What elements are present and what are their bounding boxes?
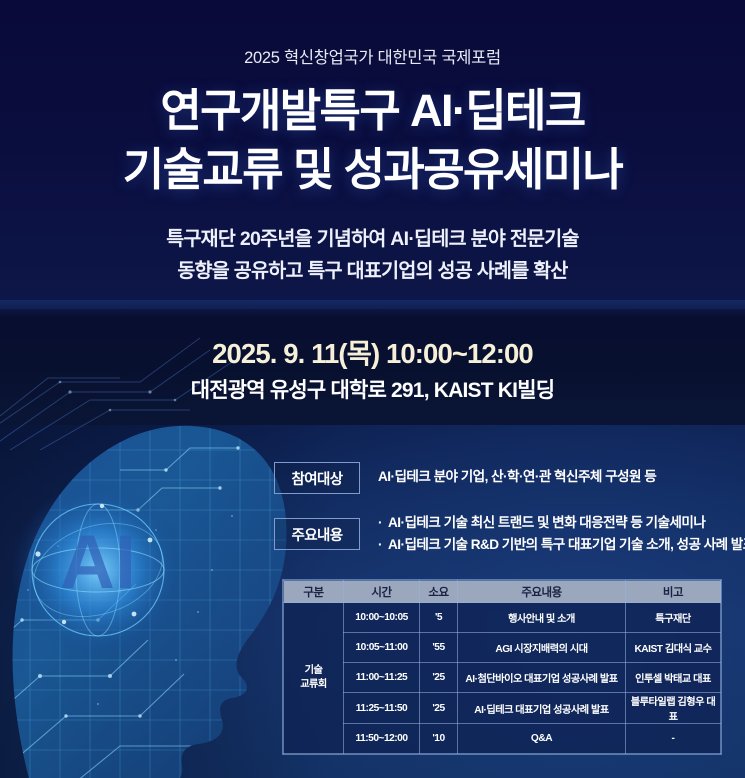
info-body-contents: AI·딥테크 기술 최신 트랜드 및 변화 대응전략 등 기술세미나 AI·딥테… <box>360 508 745 556</box>
cell-duration: '5 <box>420 603 458 633</box>
cell-note: KAIST 김대식 교수 <box>626 633 721 663</box>
column-header-group: 구분 <box>284 581 344 603</box>
poster-subtitle: 특구재단 20주년을 기념하여 AI·딥테크 분야 전문기술 동향을 공유하고 … <box>0 224 745 287</box>
cell-topic: AI·첨단바이오 대표기업 성공사례 발표 <box>458 663 626 693</box>
session-group-label: 기술 교류회 <box>284 603 344 754</box>
contents-bullet-1: AI·딥테크 기술 최신 트랜드 및 변화 대응전략 등 기술세미나 <box>378 512 745 534</box>
table-row: 11:00~11:25 '25 AI·첨단바이오 대표기업 성공사례 발표 인투… <box>284 663 721 693</box>
cell-topic: AGI 시장지배력의 시대 <box>458 633 626 663</box>
session-group-label-line-1: 기술 <box>305 665 323 676</box>
badge-audience: 참여대상 <box>274 462 360 494</box>
schedule-table: 구분 시간 소요 주요내용 비고 기술 교류회 10:00~10:05 '5 행… <box>283 580 721 754</box>
schedule-table-wrapper: 구분 시간 소요 주요내용 비고 기술 교류회 10:00~10:05 '5 행… <box>283 580 720 754</box>
session-group-label-line-2: 교류회 <box>300 679 327 690</box>
cell-time: 11:25~11:50 <box>344 693 420 724</box>
event-venue: 대전광역 유성구 대학로 291, KAIST KI빌딩 <box>0 374 745 404</box>
info-row-audience: 참여대상 AI·딥테크 분야 기업, 산·학·연·관 혁신주체 구성원 등 <box>274 462 734 494</box>
cell-note: 인투셀 박태교 대표 <box>626 663 721 693</box>
column-header-time: 시간 <box>344 581 420 603</box>
event-info-list: 참여대상 AI·딥테크 분야 기업, 산·학·연·관 혁신주체 구성원 등 주요… <box>274 462 734 570</box>
page-title: 연구개발특구 AI·딥테크 기술교류 및 성과공유세미나 <box>0 82 745 199</box>
event-datetime: 2025. 9. 11(목) 10:00~12:00 <box>0 331 745 371</box>
table-row: 기술 교류회 10:00~10:05 '5 행사안내 및 소개 특구재단 <box>284 603 721 633</box>
forum-eyebrow: 2025 혁신창업국가 대한민국 국제포럼 <box>0 44 745 68</box>
cell-note: 특구재단 <box>626 603 721 633</box>
audience-text: AI·딥테크 분야 기업, 산·학·연·관 혁신주체 구성원 등 <box>378 466 656 488</box>
table-row: 11:25~11:50 '25 AI·딥테크 대표기업 성공사례 발표 블루타일… <box>284 693 721 724</box>
info-body-audience: AI·딥테크 분야 기업, 산·학·연·관 혁신주체 구성원 등 <box>360 462 656 488</box>
cell-duration: '25 <box>420 693 458 724</box>
page-title-line-1: 연구개발특구 AI·딥테크 <box>0 82 745 141</box>
poster-subtitle-line-1: 특구재단 20주년을 기념하여 AI·딥테크 분야 전문기술 <box>0 224 745 256</box>
cell-time: 11:50~12:00 <box>344 724 420 754</box>
badge-contents: 주요내용 <box>274 518 360 550</box>
poster-subtitle-line-2: 동향을 공유하고 특구 대표기업의 성공 사례를 확산 <box>0 256 745 288</box>
cell-duration: '10 <box>420 724 458 754</box>
column-header-topic: 주요내용 <box>458 581 626 603</box>
column-header-duration: 소요 <box>420 581 458 603</box>
cell-time: 11:00~11:25 <box>344 663 420 693</box>
contents-bullet-2: AI·딥테크 기술 R&D 기반의 특구 대표기업 기술 소개, 성공 사례 발… <box>378 534 745 556</box>
cell-note: 블루타일랩 김형우 대표 <box>626 693 721 724</box>
table-row: 11:50~12:00 '10 Q&A - <box>284 724 721 754</box>
cell-time: 10:05~11:00 <box>344 633 420 663</box>
cell-topic: Q&A <box>458 724 626 754</box>
cell-topic: AI·딥테크 대표기업 성공사례 발표 <box>458 693 626 724</box>
info-row-contents: 주요내용 AI·딥테크 기술 최신 트랜드 및 변화 대응전략 등 기술세미나 … <box>274 508 734 556</box>
column-header-note: 비고 <box>626 581 721 603</box>
table-header-row: 구분 시간 소요 주요내용 비고 <box>284 581 721 603</box>
page-title-line-2: 기술교류 및 성과공유세미나 <box>0 141 745 200</box>
event-poster: AI 2025 혁신창업국가 대한민국 국제포럼 연구개발특구 AI·딥테크 기… <box>0 0 745 778</box>
cell-duration: '25 <box>420 663 458 693</box>
cell-duration: '55 <box>420 633 458 663</box>
table-row: 10:05~11:00 '55 AGI 시장지배력의 시대 KAIST 김대식 … <box>284 633 721 663</box>
cell-note: - <box>626 724 721 754</box>
cell-time: 10:00~10:05 <box>344 603 420 633</box>
cell-topic: 행사안내 및 소개 <box>458 603 626 633</box>
